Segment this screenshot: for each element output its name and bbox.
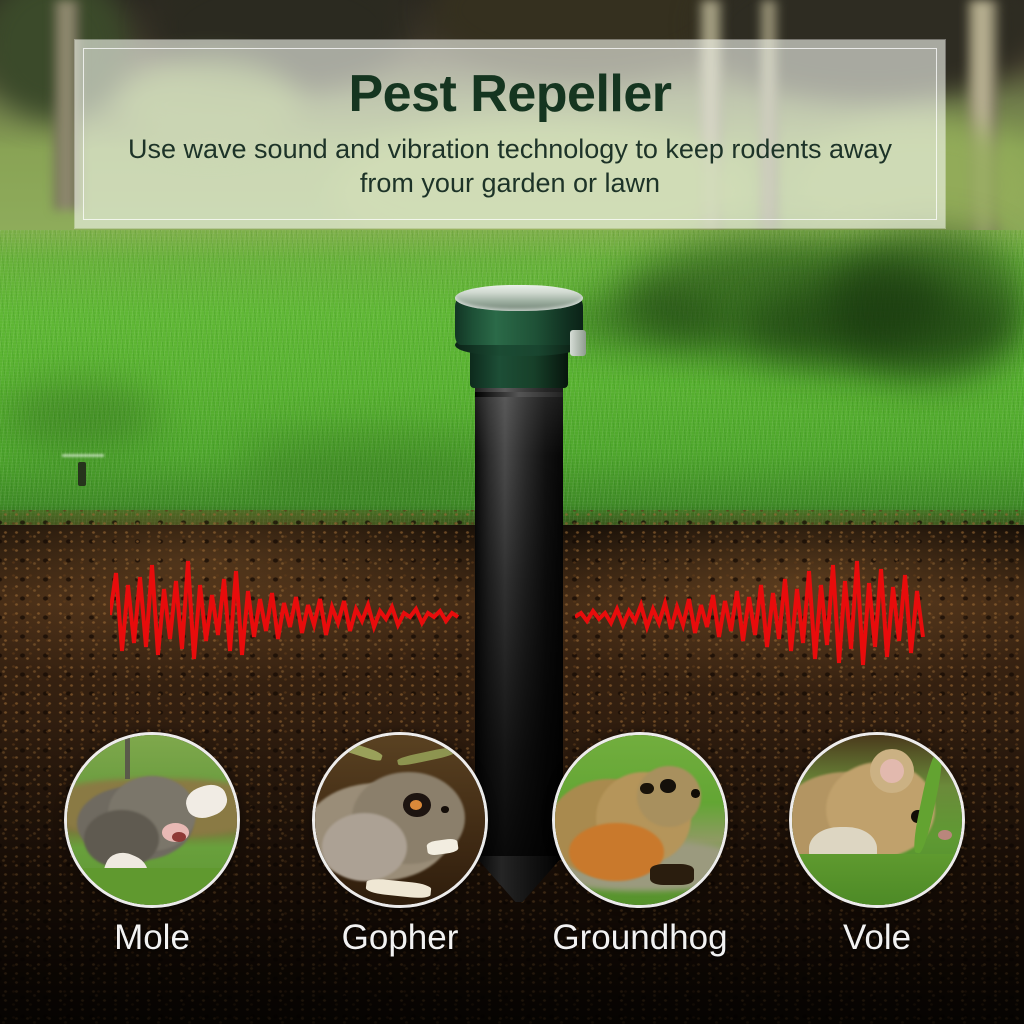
pest-card-mole[interactable]: Mole [64,732,240,908]
pest-label-vole: Vole [749,918,1005,958]
product-marketing-image: Pest Repeller Use wave sound and vibrati… [0,0,1024,1024]
headline-banner: Pest Repeller Use wave sound and vibrati… [75,40,945,228]
pest-card-vole[interactable]: Vole [789,732,965,908]
pest-card-gopher[interactable]: Gopher [312,732,488,908]
page-subtitle: Use wave sound and vibration technology … [115,132,905,200]
mole-photo [64,732,240,908]
groundhog-photo [552,732,728,908]
pest-label-mole: Mole [24,918,280,958]
pest-card-groundhog[interactable]: Groundhog [552,732,728,908]
vole-photo [789,732,965,908]
pest-label-gopher: Gopher [272,918,528,958]
sprinkler-head-icon [78,462,86,486]
background-lawn-grass [0,230,1024,525]
ultrasonic-wave-left-icon [110,555,460,675]
gopher-photo [312,732,488,908]
page-title: Pest Repeller [75,64,945,124]
pest-label-groundhog: Groundhog [512,918,768,958]
ultrasonic-wave-right-icon [575,555,925,675]
sprinkler-spray [62,454,104,457]
